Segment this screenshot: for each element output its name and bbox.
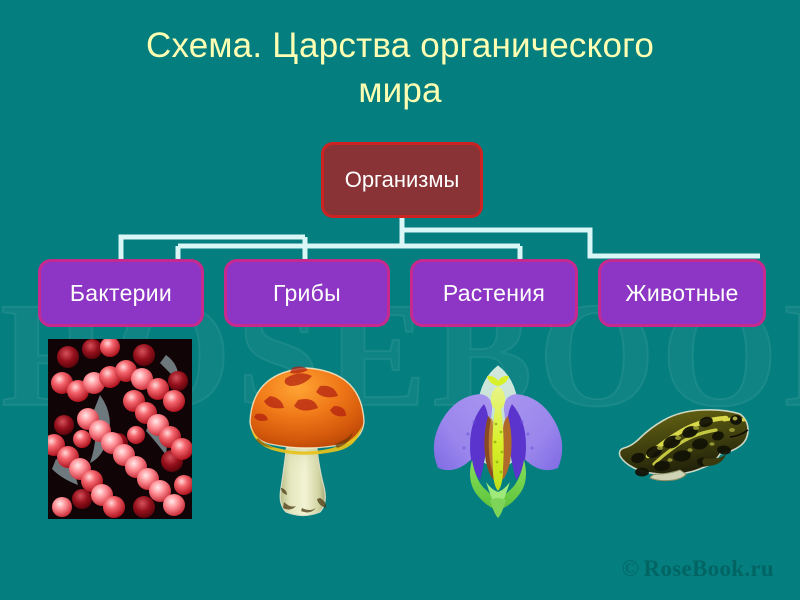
node-fungi-label: Грибы xyxy=(273,280,341,307)
node-plants[interactable]: Растения xyxy=(410,259,578,327)
copyright-watermark: ©RoseBook.ru xyxy=(622,556,774,582)
node-fungi[interactable]: Грибы xyxy=(224,259,390,327)
mushroom-illustration xyxy=(232,352,382,524)
node-plants-label: Растения xyxy=(443,280,545,307)
node-animals-label: Животные xyxy=(625,280,738,307)
copyright-symbol: © xyxy=(622,556,640,581)
slide-canvas: ROSEBOOK Схема. Царства органического ми… xyxy=(0,0,800,600)
node-bacteria-label: Бактерии xyxy=(70,280,172,307)
connector-to-bacteria xyxy=(121,237,305,259)
frog-illustration xyxy=(608,400,756,490)
copyright-site: RoseBook.ru xyxy=(644,556,774,581)
node-organisms[interactable]: Организмы xyxy=(321,142,483,218)
node-bacteria[interactable]: Бактерии xyxy=(38,259,204,327)
bacteria-cocci-photo xyxy=(48,339,192,519)
page-title-line-1: Схема. Царства органического xyxy=(146,26,654,65)
flower-cross-section-illustration xyxy=(424,360,572,522)
node-animals[interactable]: Животные xyxy=(598,259,766,327)
node-organisms-label: Организмы xyxy=(345,167,460,193)
page-title: Схема. Царства органического мира xyxy=(40,24,760,114)
connector-to-animals xyxy=(402,230,760,256)
page-title-line-2: мира xyxy=(358,71,441,110)
